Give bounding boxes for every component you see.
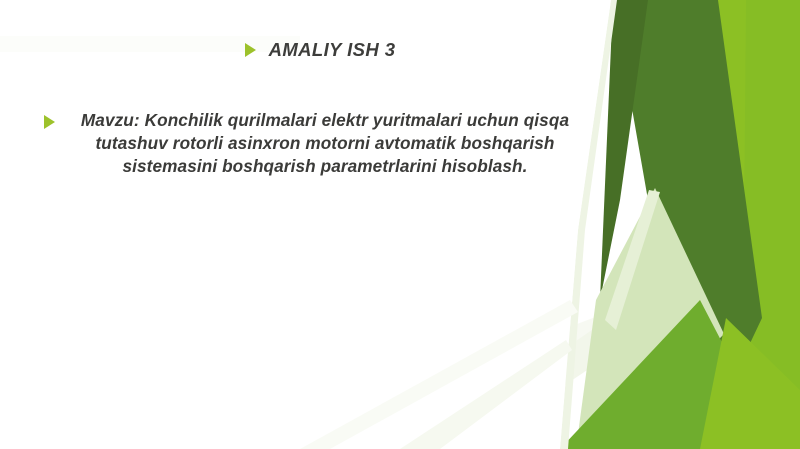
page-title: AMALIY ISH 3 <box>269 38 396 62</box>
presentation-slide: AMALIY ISH 3 Mavzu: Konchilik qurilmalar… <box>0 0 800 449</box>
slide-body-text: Mavzu: Konchilik qurilmalari elektr yuri… <box>67 109 583 179</box>
triangle-right-icon <box>245 43 256 57</box>
triangle-right-icon <box>44 115 55 129</box>
slide-content: AMALIY ISH 3 Mavzu: Konchilik qurilmalar… <box>0 0 800 449</box>
slide-title-row: AMALIY ISH 3 <box>60 38 580 62</box>
slide-body-row: Mavzu: Konchilik qurilmalari elektr yuri… <box>44 109 600 179</box>
